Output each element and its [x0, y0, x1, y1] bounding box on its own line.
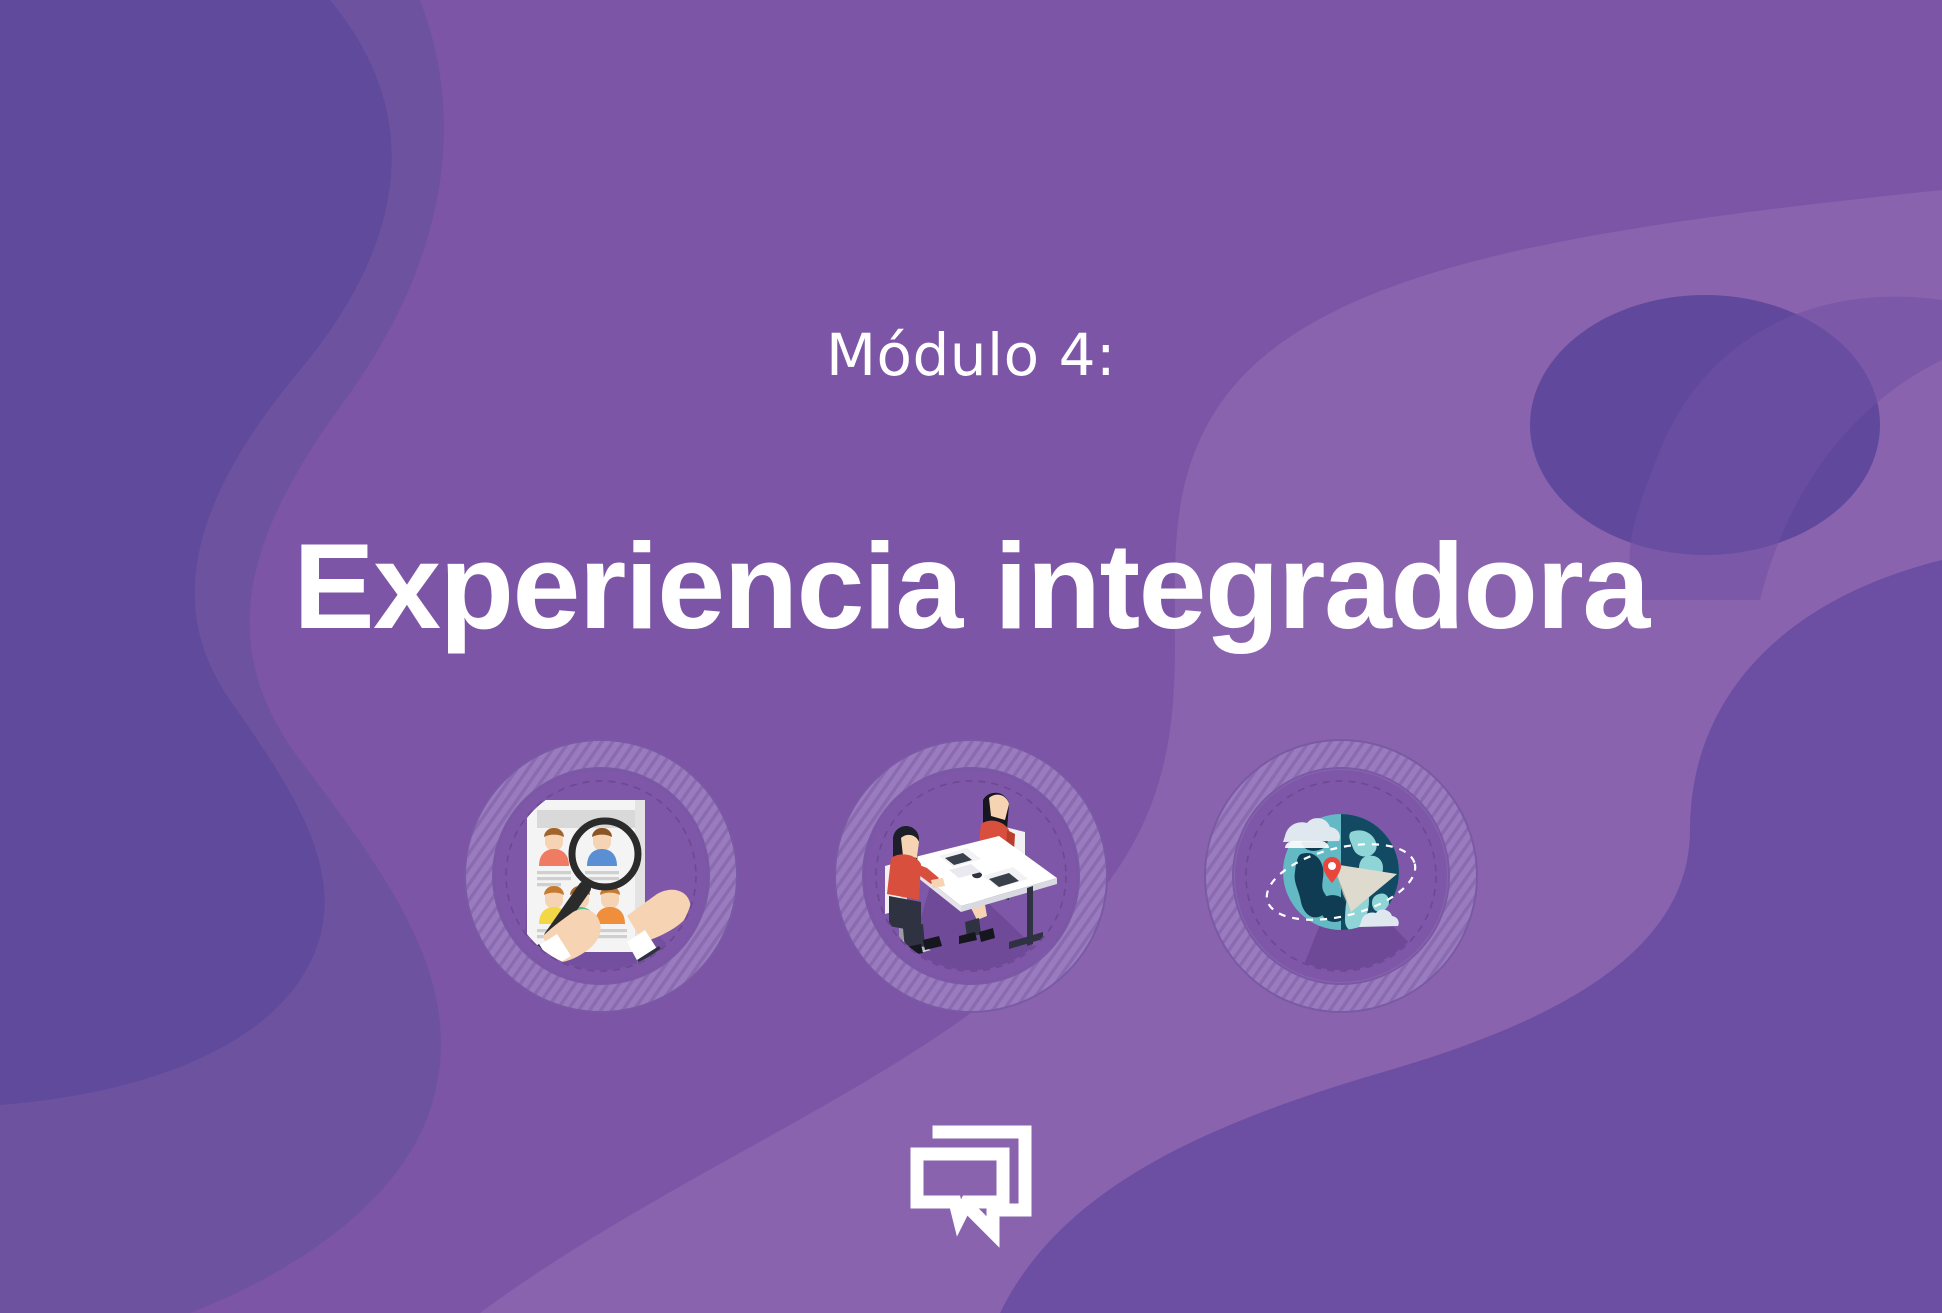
slide-canvas: Módulo 4: Experiencia integradora — [0, 0, 1942, 1313]
chat-bubbles-logo — [897, 1110, 1045, 1248]
speech-bubble-front — [917, 1154, 1003, 1218]
page-title: Experiencia integradora — [0, 522, 1942, 650]
badge-job-interview — [831, 736, 1111, 1016]
speech-bubble-back — [939, 1132, 1025, 1232]
badge-candidate-search — [461, 736, 741, 1016]
badge-global-mobility — [1201, 736, 1481, 1016]
module-eyebrow: Módulo 4: — [0, 326, 1942, 384]
badge-row — [0, 726, 1942, 1026]
